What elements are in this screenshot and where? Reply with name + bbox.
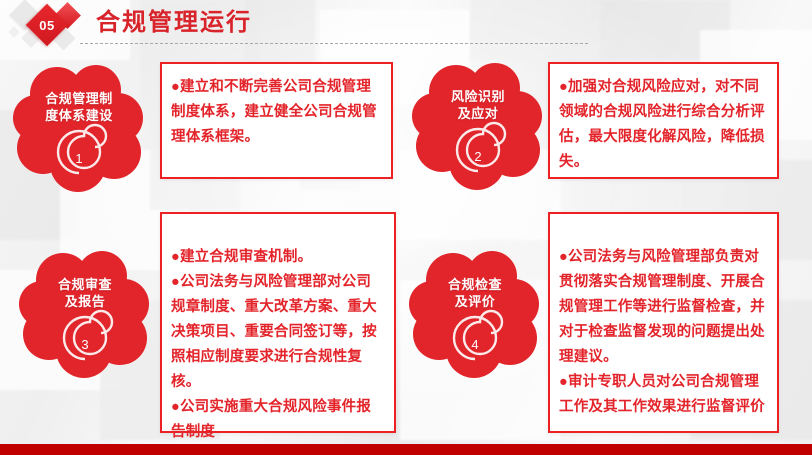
- card-paragraph: ●建立和不断完善公司合规管理制度体系，建立健全公司合规管理体系框架。: [171, 75, 382, 150]
- cloud-badge-number: 2: [413, 150, 543, 163]
- card-paragraph: ●公司法务与风险管理部对公司规章制度、重大改革方案、重大决策项目、重要合同签订等…: [171, 270, 385, 395]
- page-title: 合规管理运行: [96, 8, 252, 38]
- label-line-1: 合规管理制: [14, 90, 144, 107]
- title-divider: [80, 43, 588, 44]
- label-line-2: 及报告: [20, 293, 150, 310]
- cloud-badge-3[interactable]: 合规审查 及报告 3: [20, 246, 150, 378]
- content-card-3[interactable]: ●建立合规审查机制。 ●公司法务与风险管理部对公司规章制度、重大改革方案、重大决…: [160, 212, 396, 433]
- cloud-badge-number: 3: [20, 338, 150, 351]
- label-line-2: 度体系建设: [14, 107, 144, 124]
- section-number: 05: [32, 10, 62, 40]
- label-line-2: 及评价: [410, 293, 540, 310]
- content-card-1[interactable]: ●建立和不断完善公司合规管理制度体系，建立健全公司合规管理体系框架。: [160, 62, 393, 179]
- cloud-shape-icon: [20, 246, 150, 378]
- footer-accent-bar: [0, 444, 812, 455]
- card-text: ●建立合规审查机制。 ●公司法务与风险管理部对公司规章制度、重大改革方案、重大决…: [162, 214, 394, 445]
- label-line-1: 合规检查: [410, 276, 540, 293]
- decorative-diamond-icon: [8, 26, 19, 37]
- card-paragraph: ●公司法务与风险管理部负责对贯彻落实合规管理制度、开展合规管理工作等进行监督检查…: [559, 245, 768, 370]
- cloud-badge-label: 合规审查 及报告: [20, 276, 150, 310]
- card-text: ●加强对合规风险应对，对不同领域的合规风险进行综合分析评估，最大限度化解风险，降…: [550, 64, 777, 175]
- card-paragraph: ●审计专职人员对公司合规管理工作及其工作效果进行监督评价: [559, 370, 768, 420]
- card-paragraph: ●建立合规审查机制。: [171, 245, 385, 270]
- cloud-shape-icon: [413, 58, 543, 190]
- card-text: ●建立和不断完善公司合规管理制度体系，建立健全公司合规管理体系框架。: [162, 64, 391, 150]
- cloud-badge-label: 合规管理制 度体系建设: [14, 90, 144, 124]
- cloud-badge-1[interactable]: 合规管理制 度体系建设 1: [14, 60, 144, 192]
- slide-header: 05 合规管理运行: [0, 0, 812, 52]
- cloud-shape-icon: [14, 60, 144, 192]
- label-line-2: 及应对: [413, 105, 543, 122]
- cloud-badge-4[interactable]: 合规检查 及评价 4: [410, 246, 540, 378]
- slide-canvas: 05 合规管理运行 合规管理制 度体系建设 1: [0, 0, 812, 455]
- content-card-2[interactable]: ●加强对合规风险应对，对不同领域的合规风险进行综合分析评估，最大限度化解风险，降…: [548, 62, 779, 179]
- cloud-badge-number: 1: [14, 152, 144, 165]
- label-line-1: 合规审查: [20, 276, 150, 293]
- cloud-badge-label: 合规检查 及评价: [410, 276, 540, 310]
- card-paragraph: ●公司实施重大合规风险事件报告制度: [171, 395, 385, 445]
- cloud-badge-label: 风险识别 及应对: [413, 88, 543, 122]
- card-text: ●公司法务与风险管理部负责对贯彻落实合规管理制度、开展合规管理工作等进行监督检查…: [550, 214, 777, 420]
- cloud-badge-number: 4: [410, 338, 540, 351]
- cloud-shape-icon: [410, 246, 540, 378]
- cloud-badge-2[interactable]: 风险识别 及应对 2: [413, 58, 543, 190]
- content-card-4[interactable]: ●公司法务与风险管理部负责对贯彻落实合规管理制度、开展合规管理工作等进行监督检查…: [548, 212, 779, 433]
- label-line-1: 风险识别: [413, 88, 543, 105]
- card-paragraph: ●加强对合规风险应对，对不同领域的合规风险进行综合分析评估，最大限度化解风险，降…: [559, 75, 768, 175]
